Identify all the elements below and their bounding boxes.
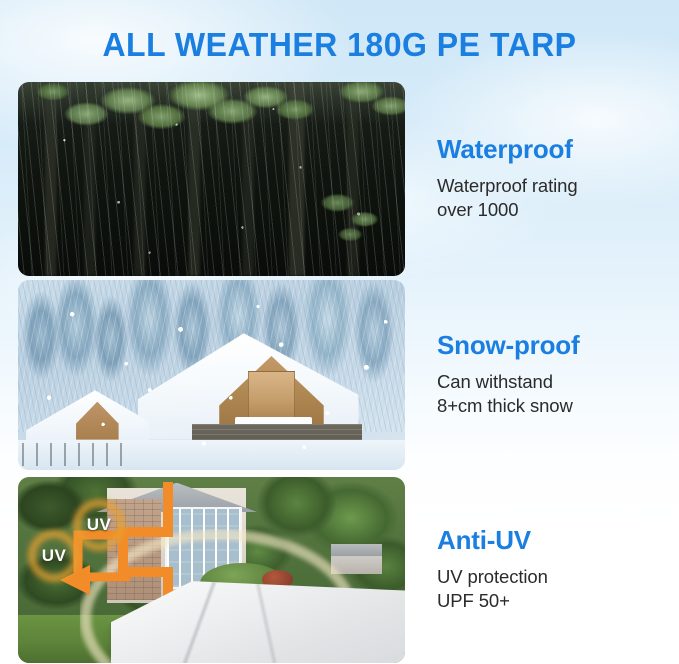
uv-badge-label: UV	[87, 515, 112, 535]
feature-heading: Waterproof	[437, 135, 661, 164]
feature-description: Waterproof rating over 1000	[437, 174, 661, 223]
feature-text-waterproof: Waterproof Waterproof rating over 1000	[405, 135, 661, 222]
feature-description: UV protection UPF 50+	[437, 565, 661, 614]
feature-text-snowproof: Snow-proof Can withstand 8+cm thick snow	[405, 331, 661, 418]
uv-badge: UV	[73, 499, 125, 551]
feature-description: Can withstand 8+cm thick snow	[437, 370, 661, 419]
uv-badge-label: UV	[42, 546, 67, 566]
feature-heading: Snow-proof	[437, 331, 661, 360]
falling-snowflakes	[18, 280, 405, 470]
uv-badge: UV	[28, 530, 80, 582]
feature-row-snowproof: Snow-proof Can withstand 8+cm thick snow	[18, 280, 661, 470]
page-title: ALL WEATHER 180G PE TARP	[10, 26, 669, 64]
feature-heading: Anti-UV	[437, 526, 661, 555]
product-infographic: ALL WEATHER 180G PE TARP Waterproof Wate…	[0, 0, 679, 664]
feature-row-waterproof: Waterproof Waterproof rating over 1000	[18, 82, 661, 276]
photo-snow-cabin	[18, 280, 405, 470]
feature-row-antiuv: UV UV Anti-UV UV protection UPF 50+	[18, 477, 661, 663]
feature-text-antiuv: Anti-UV UV protection UPF 50+	[405, 526, 661, 613]
photo-rain	[18, 82, 405, 276]
raindrop-speckles	[18, 82, 405, 276]
photo-uv-protection: UV UV	[18, 477, 405, 663]
